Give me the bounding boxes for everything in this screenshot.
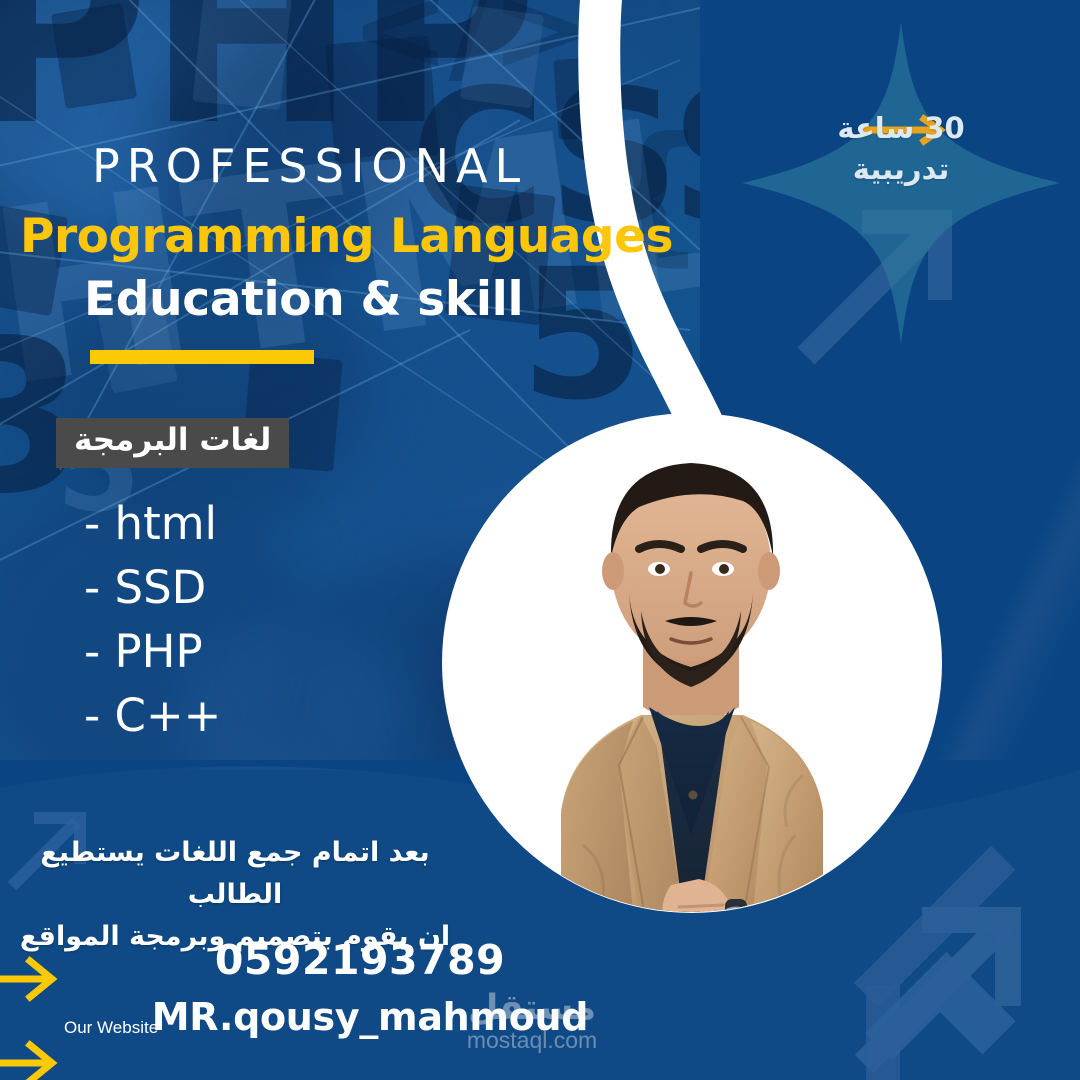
presenter-photo bbox=[443, 415, 940, 912]
language-item-html: - html bbox=[84, 492, 221, 556]
arrow-right-icon-top bbox=[0, 961, 52, 997]
phone-number[interactable]: 0592193789 bbox=[150, 936, 570, 984]
language-item-php: - PHP bbox=[84, 620, 221, 684]
social-handle[interactable]: MR.qousy_mahmoud bbox=[120, 995, 620, 1039]
headline-block: PROFESSIONAL Programming Languages Educa… bbox=[0, 142, 700, 325]
headline-underline-bar bbox=[90, 350, 314, 364]
poster-canvas: PHP CSS3 HTML 5 3 5 </> { } bbox=[0, 0, 1080, 1080]
language-item-cpp: - C++ bbox=[84, 684, 221, 748]
headline-professional: PROFESSIONAL bbox=[0, 142, 700, 190]
headline-programming-languages: Programming Languages bbox=[0, 212, 700, 262]
website-arrows bbox=[0, 945, 180, 1080]
presenter-illustration bbox=[443, 415, 940, 912]
languages-chip-label: لغات البرمجة bbox=[56, 418, 289, 468]
arrow-right-icon-bottom bbox=[0, 1045, 52, 1080]
headline-education-skill: Education & skill bbox=[0, 275, 700, 325]
language-item-ssd: - SSD bbox=[84, 556, 221, 620]
languages-list: - html - SSD - PHP - C++ bbox=[84, 492, 221, 748]
description-line-1: بعد اتمام جمع اللغات يستطيع الطالب bbox=[0, 832, 470, 916]
